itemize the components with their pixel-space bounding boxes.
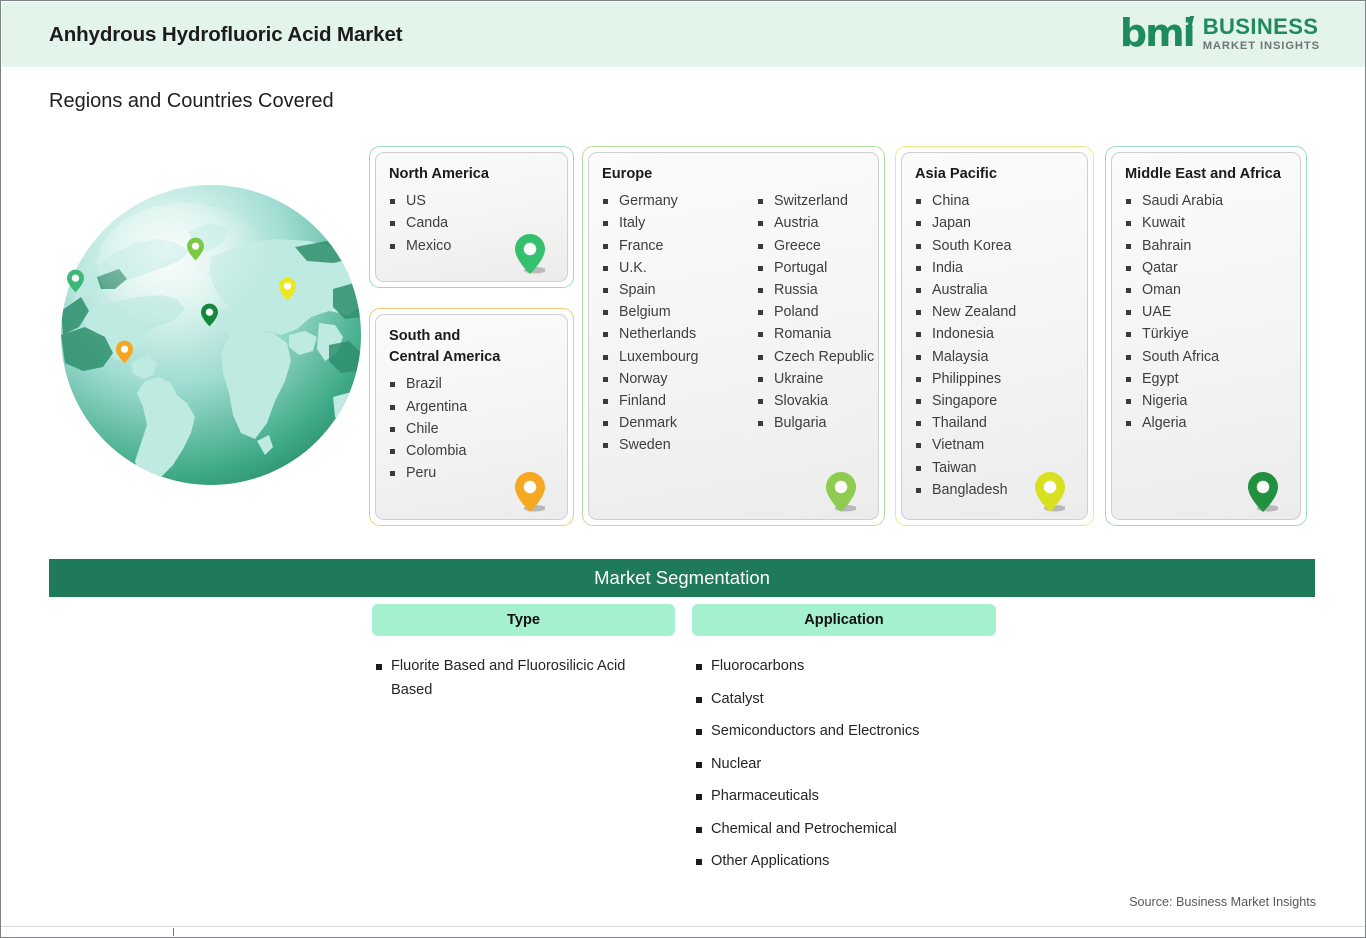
- card-pin-europe: [826, 471, 856, 513]
- card-pin-north-america: [515, 233, 545, 275]
- country-item: Philippines: [915, 368, 1016, 390]
- country-item: Ukraine: [757, 368, 874, 390]
- market-segmentation-label: Market Segmentation: [594, 567, 770, 589]
- country-item: Singapore: [915, 390, 1016, 412]
- segmentation-header-type-label: Type: [507, 612, 540, 628]
- list-item: Fluorocarbons: [696, 655, 1026, 679]
- scrollbar-thumb[interactable]: [1, 928, 174, 936]
- horizontal-scrollbar[interactable]: [1, 926, 1366, 937]
- country-item: Norway: [602, 368, 757, 390]
- segmentation-list-type: Fluorite Based and Fluorosilicic Acid Ba…: [376, 655, 654, 711]
- globe-pin-asia-pacific: [279, 277, 296, 301]
- region-card-middle-east-africa[interactable]: Middle East and Africa Saudi Arabia Kuwa…: [1111, 152, 1301, 520]
- country-item: Egypt: [1125, 368, 1223, 390]
- country-item: U.K.: [602, 257, 757, 279]
- country-item: Argentina: [389, 396, 467, 418]
- country-item: Australia: [915, 279, 1016, 301]
- country-item: Japan: [915, 212, 1016, 234]
- globe-pin-middle-east-africa: [201, 303, 218, 327]
- region-card-asia-pacific[interactable]: Asia Pacific China Japan South Korea Ind…: [901, 152, 1088, 520]
- country-list-north-america: US Canda Mexico: [389, 190, 451, 257]
- country-item: Mexico: [389, 235, 451, 257]
- region-card-north-america[interactable]: North America US Canda Mexico: [375, 152, 568, 282]
- region-card-europe[interactable]: Europe Germany Italy France U.K. Spain B…: [588, 152, 879, 520]
- globe-sphere: [61, 185, 361, 485]
- page-title: Anhydrous Hydrofluoric Acid Market: [49, 23, 403, 47]
- country-item: Chile: [389, 418, 467, 440]
- region-title-line-1: South and: [389, 328, 460, 344]
- bmi-logo-mark: bmi: [1120, 14, 1194, 52]
- section-heading: Regions and Countries Covered: [49, 90, 334, 113]
- brand-wordmark: BUSINESS MARKET INSIGHTS: [1203, 16, 1320, 52]
- country-item: Switzerland: [757, 190, 874, 212]
- region-title-line-2: Central America: [389, 349, 500, 365]
- country-item: India: [915, 257, 1016, 279]
- market-segmentation-bar: Market Segmentation: [49, 559, 1315, 597]
- country-item: Thailand: [915, 412, 1016, 434]
- country-item: Canda: [389, 212, 451, 234]
- card-pin-south-central-america: [515, 471, 545, 513]
- country-item: Taiwan: [915, 457, 1016, 479]
- country-item: Netherlands: [602, 323, 757, 345]
- globe-pin-north-america: [67, 269, 84, 293]
- country-columns-middle-east-africa: Saudi Arabia Kuwait Bahrain Qatar Oman U…: [1125, 190, 1300, 434]
- country-item: Portugal: [757, 257, 874, 279]
- country-item: Austria: [757, 212, 874, 234]
- country-item: Bulgaria: [757, 412, 874, 434]
- country-list-europe-col2: Switzerland Austria Greece Portugal Russ…: [757, 190, 874, 456]
- country-item: US: [389, 190, 451, 212]
- country-item: Greece: [757, 235, 874, 257]
- country-item: Denmark: [602, 412, 757, 434]
- source-note: Source: Business Market Insights: [1129, 895, 1316, 909]
- country-list-asia-pacific: China Japan South Korea India Australia …: [915, 190, 1016, 501]
- country-item: South Korea: [915, 235, 1016, 257]
- country-item: Russia: [757, 279, 874, 301]
- country-columns-south-central-america: Brazil Argentina Chile Colombia Peru: [389, 373, 567, 484]
- region-title-south-central-america: South and Central America: [389, 326, 567, 368]
- header-band: Anhydrous Hydrofluoric Acid Market bmi B…: [2, 2, 1366, 67]
- country-item: Algeria: [1125, 412, 1223, 434]
- country-item: Slovakia: [757, 390, 874, 412]
- country-list-south-central-america: Brazil Argentina Chile Colombia Peru: [389, 373, 467, 484]
- brand-logo: bmi BUSINESS MARKET INSIGHTS: [1120, 16, 1320, 54]
- country-item: Kuwait: [1125, 212, 1223, 234]
- country-item: Qatar: [1125, 257, 1223, 279]
- list-item: Fluorite Based and Fluorosilicic Acid Ba…: [376, 655, 654, 702]
- country-item: Nigeria: [1125, 390, 1223, 412]
- list-item: Other Applications: [696, 850, 1026, 874]
- country-columns-asia-pacific: China Japan South Korea India Australia …: [915, 190, 1087, 501]
- segmentation-header-type[interactable]: Type: [372, 604, 675, 636]
- globe-illustration: [61, 185, 361, 485]
- list-item: Pharmaceuticals: [696, 785, 1026, 809]
- country-item: Colombia: [389, 440, 467, 462]
- country-item: Poland: [757, 301, 874, 323]
- country-item: Germany: [602, 190, 757, 212]
- country-list-europe-col1: Germany Italy France U.K. Spain Belgium …: [602, 190, 757, 456]
- card-pin-asia-pacific: [1035, 471, 1065, 513]
- country-item: Spain: [602, 279, 757, 301]
- globe-pin-south-central-america: [116, 340, 133, 364]
- globe-continents-icon: [61, 185, 361, 485]
- country-item: Italy: [602, 212, 757, 234]
- brand-line-business: BUSINESS: [1203, 16, 1320, 38]
- country-item: Indonesia: [915, 323, 1016, 345]
- country-item: Malaysia: [915, 346, 1016, 368]
- country-item: Belgium: [602, 301, 757, 323]
- globe-pin-europe: [187, 237, 204, 261]
- country-item: Vietnam: [915, 434, 1016, 456]
- region-title-europe: Europe: [602, 164, 878, 185]
- region-title-asia-pacific: Asia Pacific: [915, 164, 1087, 185]
- segmentation-list-application: Fluorocarbons Catalyst Semiconductors an…: [696, 655, 1026, 883]
- brand-line-market-insights: MARKET INSIGHTS: [1203, 41, 1320, 52]
- country-item: France: [602, 235, 757, 257]
- country-columns-europe: Germany Italy France U.K. Spain Belgium …: [602, 190, 878, 456]
- country-item: UAE: [1125, 301, 1223, 323]
- country-item: Romania: [757, 323, 874, 345]
- list-item: Nuclear: [696, 753, 1026, 777]
- segmentation-header-application[interactable]: Application: [692, 604, 996, 636]
- region-title-middle-east-africa: Middle East and Africa: [1125, 164, 1300, 185]
- country-item: Brazil: [389, 373, 467, 395]
- country-item: Sweden: [602, 434, 757, 456]
- list-item: Chemical and Petrochemical: [696, 818, 1026, 842]
- list-item: Semiconductors and Electronics: [696, 720, 1026, 744]
- country-list-middle-east-africa: Saudi Arabia Kuwait Bahrain Qatar Oman U…: [1125, 190, 1223, 434]
- country-item: Oman: [1125, 279, 1223, 301]
- infographic-page: Anhydrous Hydrofluoric Acid Market bmi B…: [0, 0, 1366, 938]
- segmentation-header-application-label: Application: [804, 612, 883, 628]
- card-pin-middle-east-africa: [1248, 471, 1278, 513]
- bmi-logo-text: bmi: [1120, 11, 1194, 55]
- list-item: Catalyst: [696, 688, 1026, 712]
- country-item: Peru: [389, 462, 467, 484]
- country-item: South Africa: [1125, 346, 1223, 368]
- country-item: Czech Republic: [757, 346, 874, 368]
- country-item: Türkiye: [1125, 323, 1223, 345]
- country-item: Bangladesh: [915, 479, 1016, 501]
- country-item: Saudi Arabia: [1125, 190, 1223, 212]
- region-title-north-america: North America: [389, 164, 567, 185]
- country-item: Finland: [602, 390, 757, 412]
- country-item: Luxembourg: [602, 346, 757, 368]
- country-item: Bahrain: [1125, 235, 1223, 257]
- country-item: New Zealand: [915, 301, 1016, 323]
- region-card-south-central-america[interactable]: South and Central America Brazil Argenti…: [375, 314, 568, 520]
- country-item: China: [915, 190, 1016, 212]
